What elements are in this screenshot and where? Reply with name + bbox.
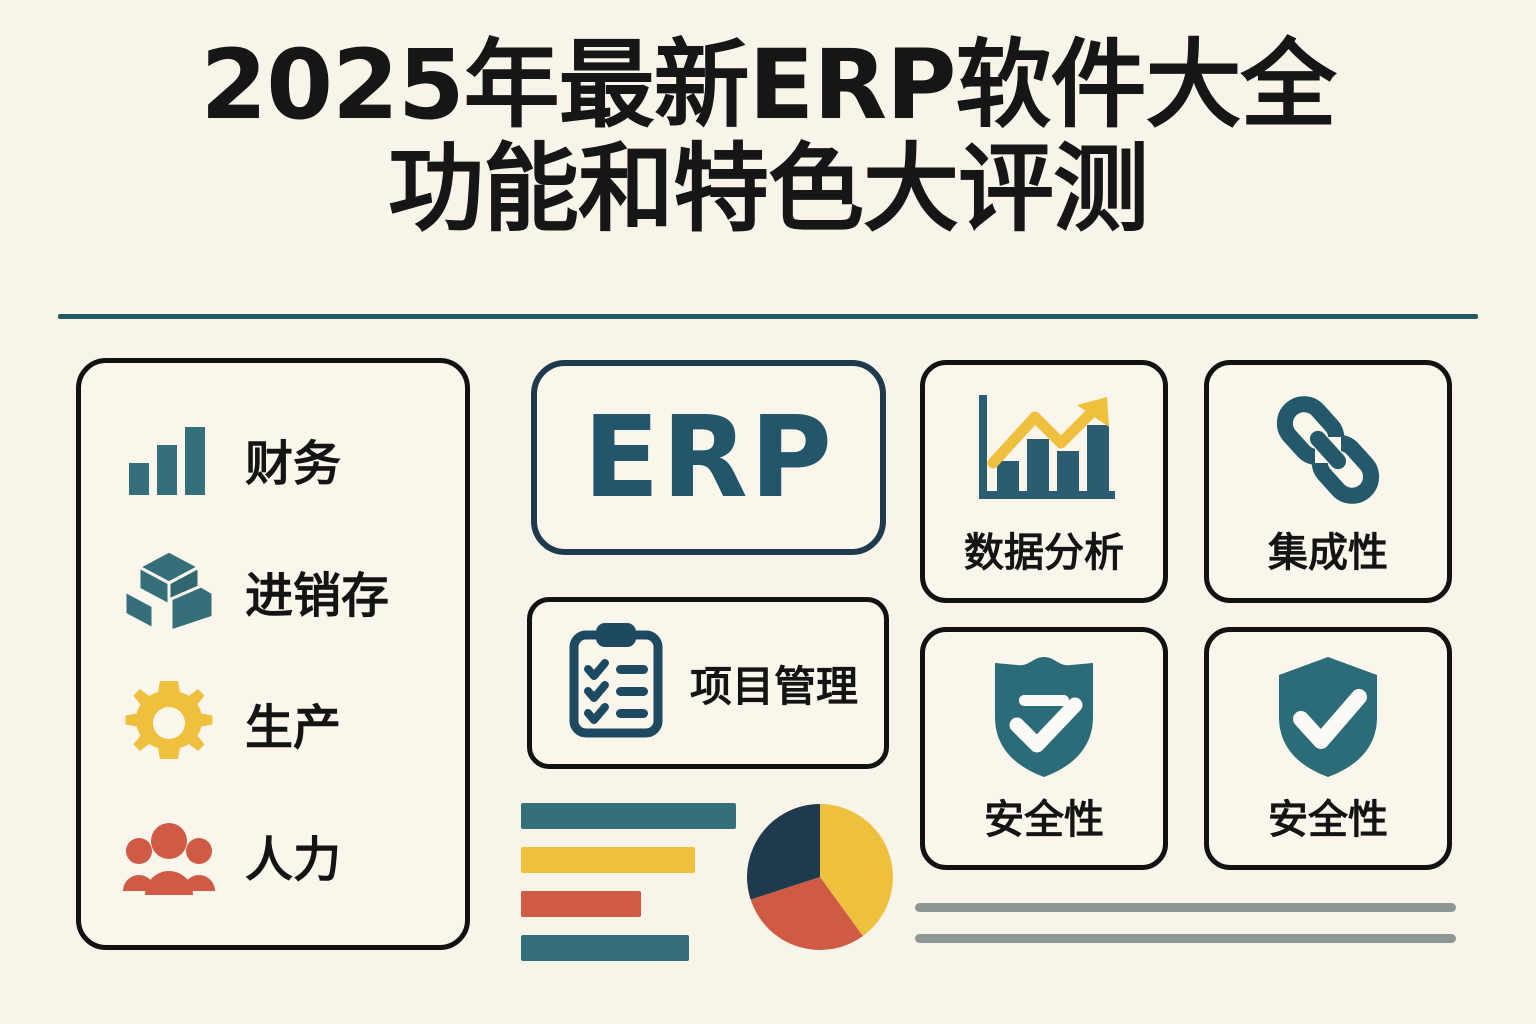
gear-icon — [121, 675, 217, 771]
module-label: 进销存 — [245, 556, 389, 626]
bar-item — [521, 891, 641, 917]
erp-label: ERP — [583, 402, 834, 514]
bar-item — [521, 803, 736, 829]
horizontal-bar-chart — [521, 803, 736, 979]
bar-chart-icon — [121, 411, 217, 507]
pie-chart — [744, 801, 896, 958]
module-item-production[interactable]: 生产 — [81, 657, 465, 789]
bar-item — [521, 935, 689, 961]
project-management-label: 项目管理 — [690, 653, 858, 714]
module-label: 生产 — [245, 688, 341, 758]
feature-card-label: 安全性 — [1268, 787, 1388, 845]
people-icon — [121, 807, 217, 903]
module-label: 人力 — [245, 820, 341, 890]
erp-logo-box: ERP — [531, 360, 886, 555]
placeholder-line — [915, 903, 1456, 912]
title-divider — [58, 314, 1478, 319]
feature-card-label: 集成性 — [1268, 520, 1388, 578]
feature-card-data-analytics[interactable]: 数据分析 — [920, 360, 1168, 603]
feature-card-security-1[interactable]: 安全性 — [920, 627, 1168, 870]
shield-check-icon — [985, 653, 1103, 781]
boxes-icon — [121, 543, 217, 639]
feature-card-label: 安全性 — [984, 787, 1104, 845]
project-management-card[interactable]: 项目管理 — [527, 597, 889, 769]
module-label: 财务 — [245, 424, 341, 494]
title-line-1: 2025年最新ERP软件大全 — [0, 34, 1536, 138]
feature-card-integration[interactable]: 集成性 — [1204, 360, 1452, 603]
feature-card-security-2[interactable]: 安全性 — [1204, 627, 1452, 870]
feature-card-label: 数据分析 — [964, 520, 1124, 578]
shield-check-icon — [1269, 653, 1387, 781]
bar-item — [521, 847, 695, 873]
modules-panel: 财务 进销存 — [76, 358, 470, 950]
chain-link-icon — [1265, 386, 1391, 514]
module-item-inventory[interactable]: 进销存 — [81, 525, 465, 657]
clipboard-checklist-icon — [560, 619, 672, 748]
page-title: 2025年最新ERP软件大全 功能和特色大评测 — [0, 34, 1536, 241]
title-line-2: 功能和特色大评测 — [0, 138, 1536, 242]
growth-chart-icon — [969, 386, 1119, 514]
module-item-finance[interactable]: 财务 — [81, 393, 465, 525]
module-item-hr[interactable]: 人力 — [81, 789, 465, 921]
placeholder-line — [915, 934, 1456, 943]
